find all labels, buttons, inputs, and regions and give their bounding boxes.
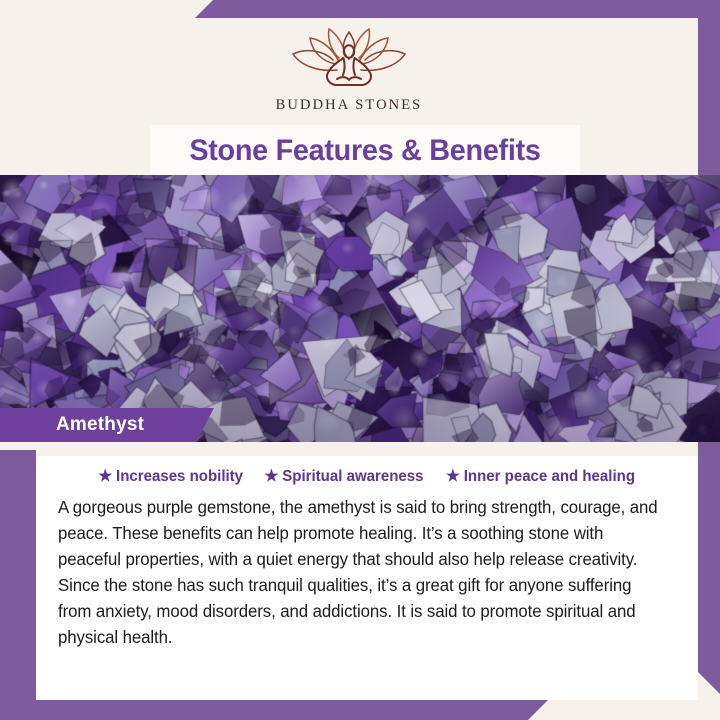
benefit-item: ★ Increases nobility [98,468,243,486]
brand-logo: BUDDHA STONES [274,26,424,114]
page-title: Stone Features & Benefits [189,134,540,168]
benefit-label: Increases nobility [116,468,243,486]
poster-root: BUDDHA STONES Stone Features & Benefits … [0,0,720,720]
lotus-meditation-icon [279,26,419,92]
benefit-item: ★ Inner peace and healing [446,468,635,486]
hero-image [0,175,720,442]
panel-top-strip [36,442,698,456]
star-icon: ★ [446,469,460,485]
stone-description: A gorgeous purple gemstone, the amethyst… [58,495,667,651]
stone-name-ribbon: Amethyst [0,408,214,442]
amethyst-photo-canvas [0,175,720,442]
star-icon: ★ [265,469,279,485]
frame-top-band [195,0,720,18]
benefit-label: Inner peace and healing [464,468,635,486]
benefit-label: Spiritual awareness [282,468,423,486]
star-icon: ★ [98,469,112,485]
header: BUDDHA STONES Stone Features & Benefits [0,18,698,175]
content-panel: ★ Increases nobility ★ Spiritual awarene… [36,456,698,700]
frame-bottom-band [0,700,548,720]
benefits-row: ★ Increases nobility ★ Spiritual awarene… [58,468,676,486]
frame-left-band [0,450,36,720]
stone-name-label: Amethyst [56,414,144,436]
title-plate: Stone Features & Benefits [150,125,580,177]
benefit-item: ★ Spiritual awareness [265,468,424,486]
brand-name: BUDDHA STONES [276,97,423,114]
